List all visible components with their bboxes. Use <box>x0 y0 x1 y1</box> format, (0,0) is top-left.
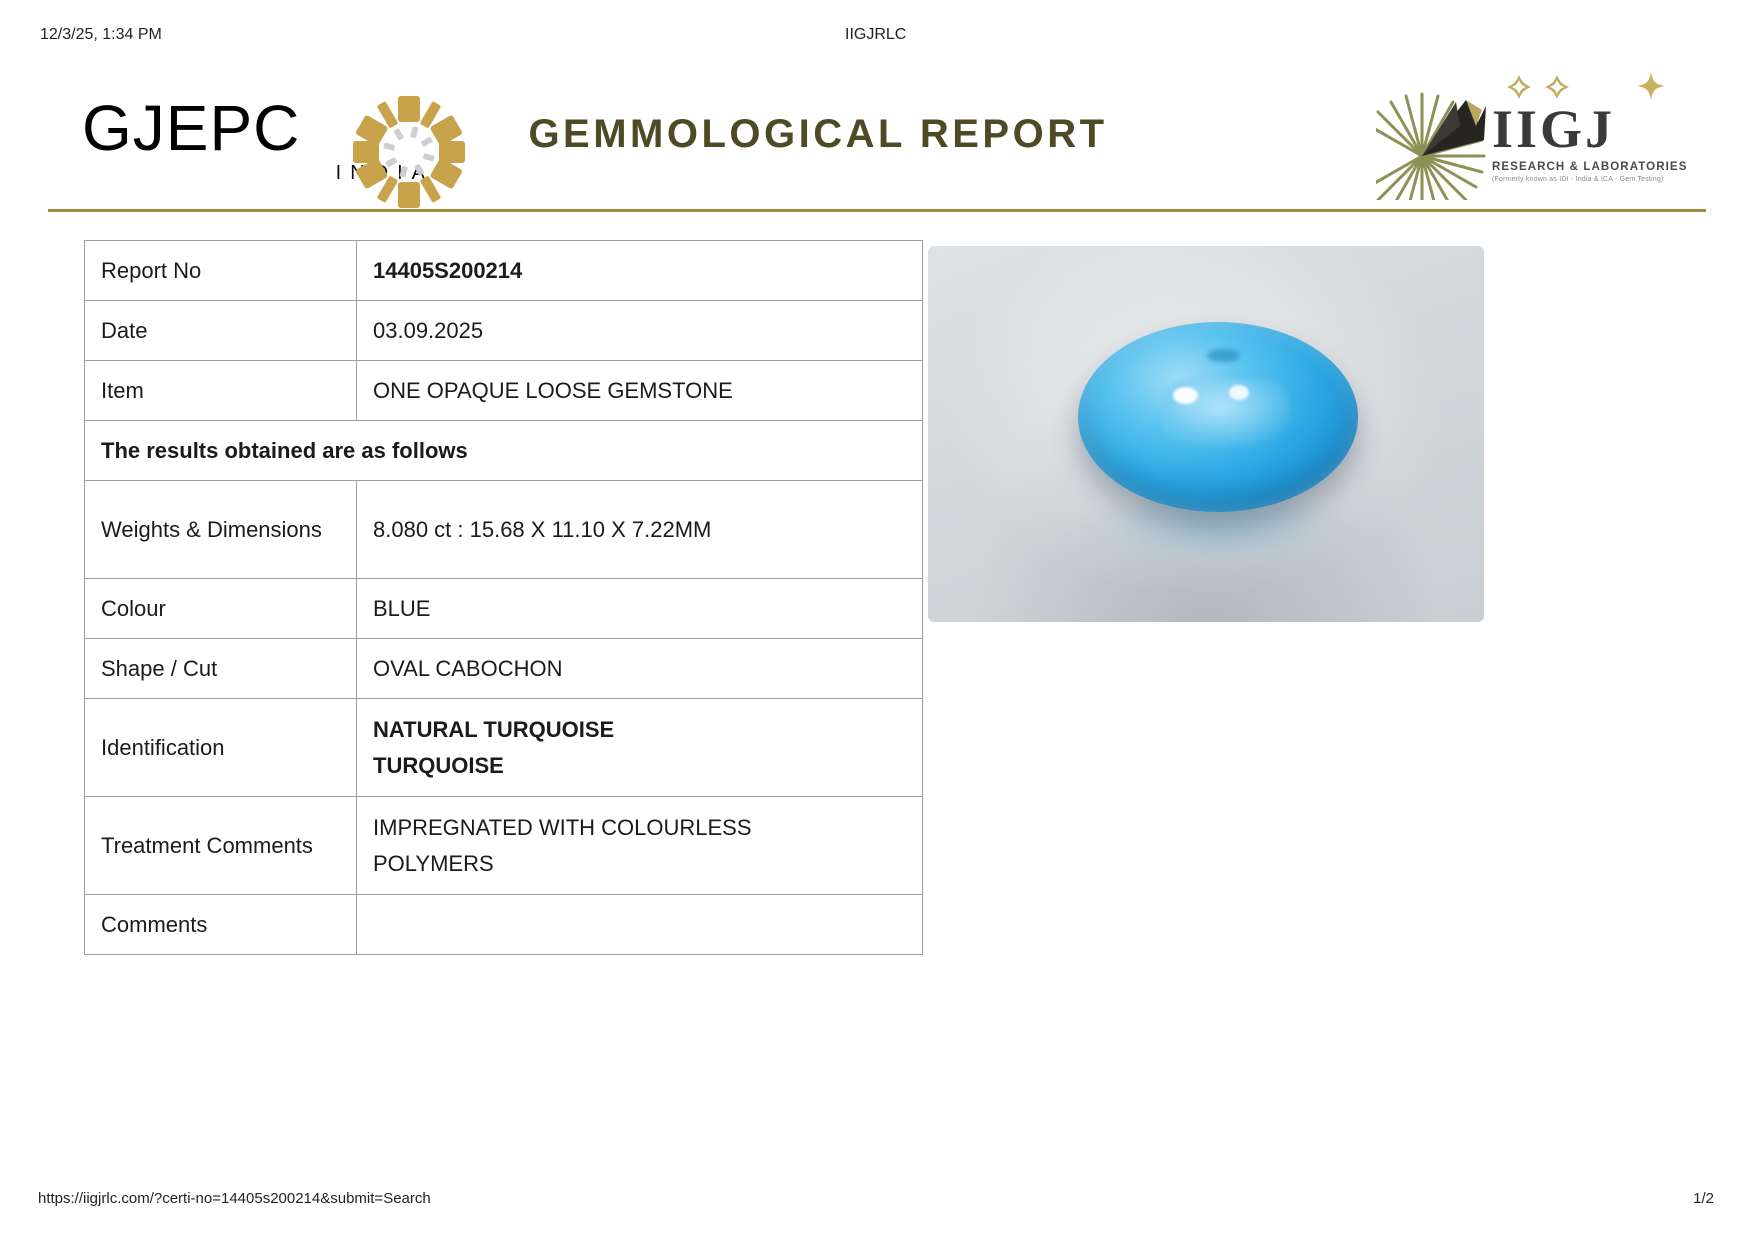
print-timestamp: 12/3/25, 1:34 PM <box>40 26 162 44</box>
print-site-name: IIGJRLC <box>845 26 906 44</box>
table-row-weights-dimensions: Weights & Dimensions 8.080 ct : 15.68 X … <box>85 481 923 579</box>
sparkle-icon-1 <box>1506 74 1532 100</box>
table-row-comments: Comments <box>85 895 923 955</box>
identification-line-2: TURQUOISE <box>373 748 906 784</box>
label-shape-cut: Shape / Cut <box>85 639 357 699</box>
label-colour: Colour <box>85 579 357 639</box>
table-row-report-no: Report No 14405S200214 <box>85 241 923 301</box>
gjepc-logo: GJEPC INDIA <box>82 96 442 206</box>
table-row-section-heading: The results obtained are as follows <box>85 421 923 481</box>
table-row-shape-cut: Shape / Cut OVAL CABOCHON <box>85 639 923 699</box>
label-treatment-comments: Treatment Comments <box>85 797 357 895</box>
iigj-starburst-icon <box>1376 70 1506 200</box>
footer-url: https://iigjrlc.com/?certi-no=14405s2002… <box>38 1190 431 1207</box>
browser-print-header: 12/3/25, 1:34 PM IIGJRLC <box>0 26 1754 48</box>
treatment-line-2: POLYMERS <box>373 846 906 882</box>
gem-surface-mark <box>1207 349 1241 362</box>
value-report-no: 14405S200214 <box>357 241 923 301</box>
table-row-treatment-comments: Treatment Comments IMPREGNATED WITH COLO… <box>85 797 923 895</box>
value-comments <box>357 895 923 955</box>
value-item: ONE OPAQUE LOOSE GEMSTONE <box>357 361 923 421</box>
masthead-divider <box>48 209 1706 212</box>
value-identification: NATURAL TURQUOISE TURQUOISE <box>357 699 923 797</box>
value-date: 03.09.2025 <box>357 301 923 361</box>
label-item: Item <box>85 361 357 421</box>
page-title: GEMMOLOGICAL REPORT <box>468 108 1168 160</box>
footer-page-number: 1/2 <box>1693 1190 1714 1207</box>
sparkle-icon-2 <box>1544 74 1570 100</box>
gem-cabochon <box>1078 322 1358 512</box>
gem-specular-1 <box>1173 387 1198 404</box>
label-identification: Identification <box>85 699 357 797</box>
iigj-letters: IIGJ <box>1492 102 1692 156</box>
label-report-no: Report No <box>85 241 357 301</box>
table-row-colour: Colour BLUE <box>85 579 923 639</box>
value-weights-dimensions: 8.080 ct : 15.68 X 11.10 X 7.22MM <box>357 481 923 579</box>
gemstone-photo <box>928 246 1484 622</box>
report-masthead: GJEPC INDIA <box>48 60 1706 210</box>
iigj-wordmark-block: IIGJ RESEARCH & LABORATORIES (Formerly k… <box>1492 74 1692 183</box>
table-row-date: Date 03.09.2025 <box>85 301 923 361</box>
table-row-identification: Identification NATURAL TURQUOISE TURQUOI… <box>85 699 923 797</box>
identification-line-1: NATURAL TURQUOISE <box>373 712 906 748</box>
label-weights-dimensions: Weights & Dimensions <box>85 481 357 579</box>
label-comments: Comments <box>85 895 357 955</box>
value-treatment-comments: IMPREGNATED WITH COLOURLESS POLYMERS <box>357 797 923 895</box>
browser-print-footer: https://iigjrlc.com/?certi-no=14405s2002… <box>0 1190 1754 1212</box>
section-heading-results: The results obtained are as follows <box>85 421 923 481</box>
table-row-item: Item ONE OPAQUE LOOSE GEMSTONE <box>85 361 923 421</box>
sparkle-icon-3 <box>1637 72 1665 100</box>
iigj-fineprint: (Formerly known as IDI - India & ICA - G… <box>1492 176 1692 183</box>
gem-specular-2 <box>1229 385 1249 400</box>
iigj-subtitle: RESEARCH & LABORATORIES <box>1492 161 1692 173</box>
value-colour: BLUE <box>357 579 923 639</box>
gem-report-table: Report No 14405S200214 Date 03.09.2025 I… <box>84 240 923 955</box>
treatment-line-1: IMPREGNATED WITH COLOURLESS <box>373 810 906 846</box>
iigj-logo: IIGJ RESEARCH & LABORATORIES (Formerly k… <box>1376 60 1696 210</box>
gjepc-sunburst-icon <box>347 90 471 214</box>
value-shape-cut: OVAL CABOCHON <box>357 639 923 699</box>
iigj-sparkle-icons <box>1492 74 1692 100</box>
label-date: Date <box>85 301 357 361</box>
